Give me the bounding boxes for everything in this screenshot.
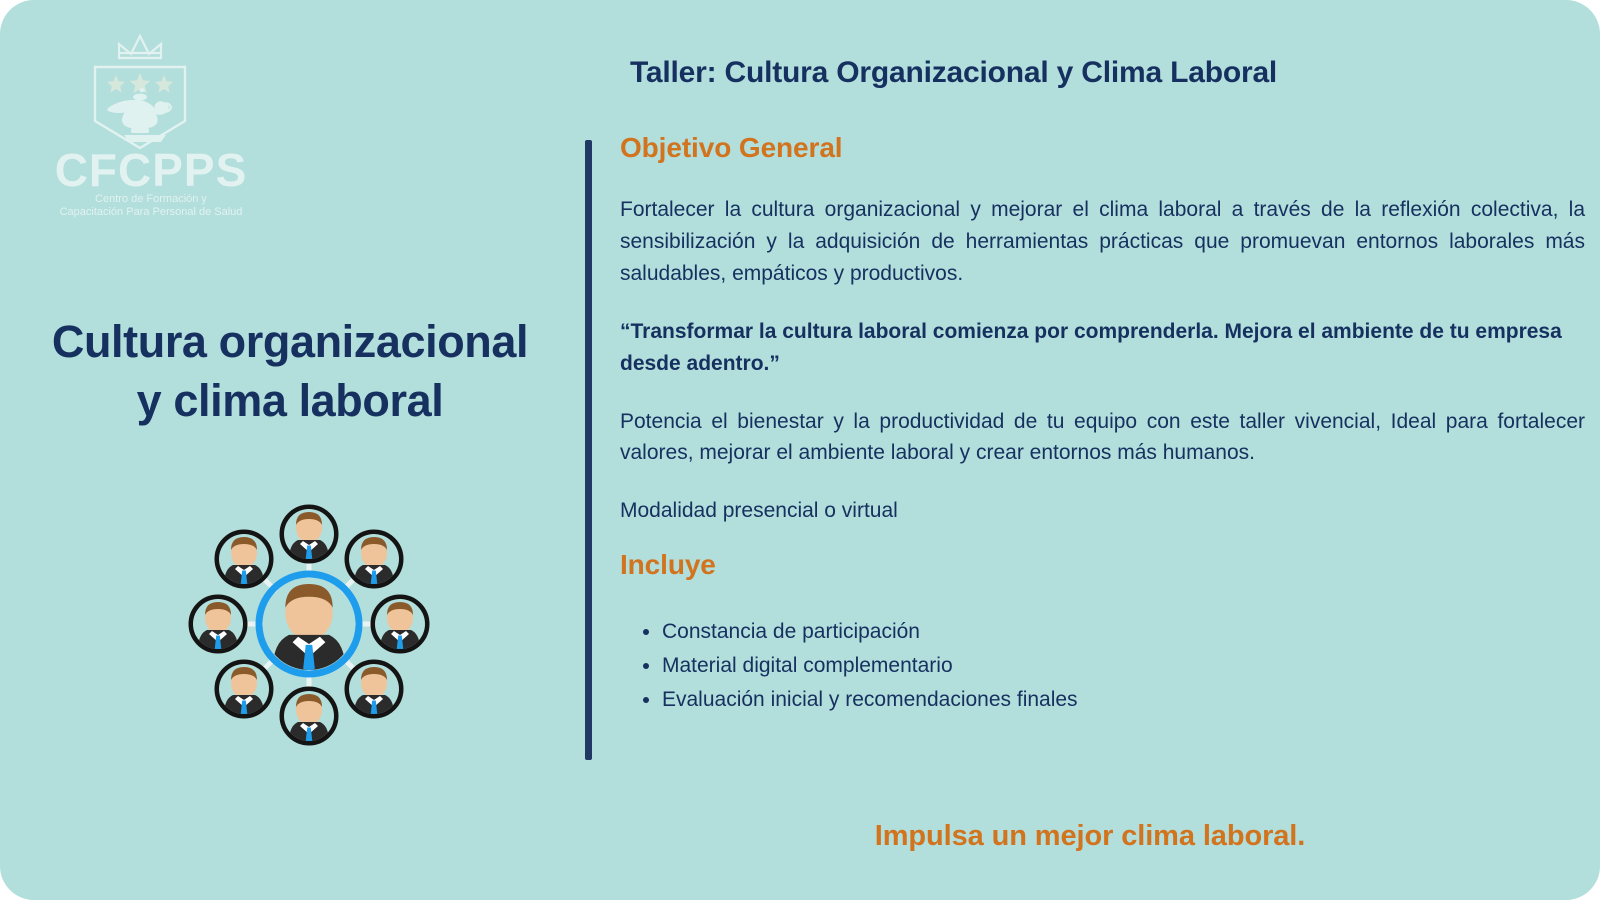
person-node-top-right	[347, 532, 401, 586]
logo-acronym: CFCPPS	[55, 144, 248, 196]
person-node-bottom-left	[217, 662, 271, 716]
page-title: Cultura organizacional y clima laboral	[0, 312, 580, 431]
vertical-accent-bar	[585, 140, 592, 760]
section-heading-incluye: Incluye	[620, 549, 1585, 581]
spacer	[620, 290, 1585, 316]
incluye-list: Constancia de participación Material dig…	[620, 615, 1585, 717]
right-column: Taller: Cultura Organizacional y Clima L…	[580, 0, 1600, 900]
spacer	[620, 469, 1585, 495]
person-node-top	[282, 507, 336, 561]
page-title-line2: y clima laboral	[0, 371, 580, 430]
person-node-right	[373, 597, 427, 651]
left-column: CFCPPS Centro de Formación y Capacitació…	[0, 0, 580, 900]
list-item: Material digital complementario	[662, 649, 1585, 683]
page-title-line1: Cultura organizacional	[0, 312, 580, 371]
person-node-center	[259, 574, 359, 674]
objetivo-paragraph: Fortalecer la cultura organizacional y m…	[620, 194, 1585, 290]
person-node-top-left	[217, 532, 271, 586]
list-item: Constancia de participación	[662, 615, 1585, 649]
workshop-body: Objetivo General Fortalecer la cultura o…	[620, 132, 1585, 717]
people-network-graphic	[178, 478, 440, 770]
logo-tagline-1: Centro de Formación y	[95, 193, 207, 205]
footer-cta: Impulsa un mejor clima laboral.	[580, 820, 1600, 853]
workshop-quote: “Transformar la cultura laboral comienza…	[620, 316, 1585, 380]
logo-tagline-2: Capacitación Para Personal de Salud	[60, 206, 243, 218]
poster-canvas: CFCPPS Centro de Formación y Capacitació…	[0, 0, 1600, 900]
person-node-bottom	[282, 689, 336, 743]
spacer	[620, 164, 1585, 194]
spacer	[620, 581, 1585, 615]
spacer	[620, 527, 1585, 549]
section-heading-objetivo: Objetivo General	[620, 132, 1585, 164]
workshop-title: Taller: Cultura Organizacional y Clima L…	[630, 56, 1580, 90]
person-node-left	[191, 597, 245, 651]
list-item: Evaluación inicial y recomendaciones fin…	[662, 683, 1585, 717]
spacer	[620, 380, 1585, 406]
crown-icon	[119, 36, 161, 58]
person-node-bottom-right	[347, 662, 401, 716]
modalidad-text: Modalidad presencial o virtual	[620, 495, 1585, 527]
cfcpps-logo: CFCPPS Centro de Formación y Capacitació…	[36, 18, 266, 248]
pitch-paragraph: Potencia el bienestar y la productividad…	[620, 406, 1585, 470]
